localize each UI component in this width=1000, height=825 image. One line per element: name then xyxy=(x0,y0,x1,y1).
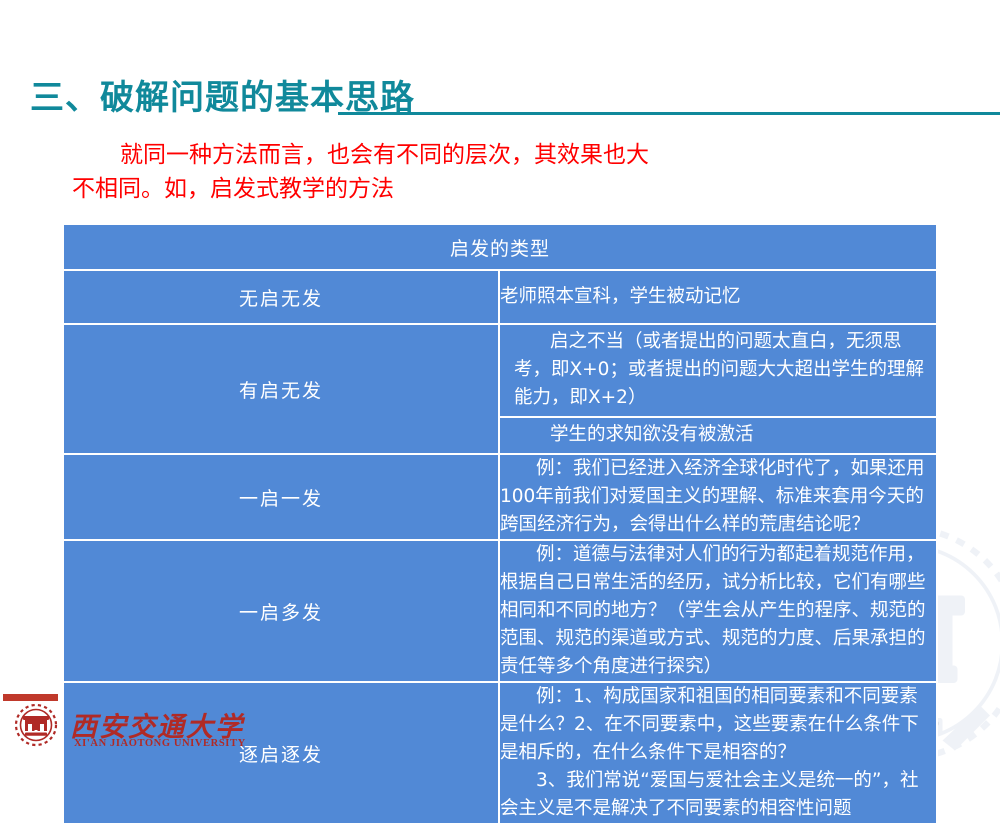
row-content: 例：道德与法律对人们的行为都起着规范作用，根据自己日常生活的经历，试分析比较，它… xyxy=(500,541,938,683)
row-paragraph: 3、我们常说“爱国与爱社会主义是统一的”，社会主义是不是解决了不同要素的相容性问… xyxy=(500,767,936,823)
university-name-en: XI'AN JIAOTONG UNIVERSITY xyxy=(74,738,246,749)
row-content: 老师照本宣科，学生被动记忆 xyxy=(500,271,938,325)
table-row: 一启多发 例：道德与法律对人们的行为都起着规范作用，根据自己日常生活的经历，试分… xyxy=(62,541,938,683)
table-header-row: 启发的类型 xyxy=(62,223,938,271)
university-seal-icon xyxy=(8,703,64,747)
row-label: 一启一发 xyxy=(62,455,500,541)
row-label: 有启无发 xyxy=(62,325,500,455)
title-underline-rule xyxy=(338,112,1000,115)
row-paragraph: 例：我们已经进入经济全球化时代了，如果还用100年前我们对爱国主义的理解、标准来… xyxy=(500,455,936,539)
table-row: 有启无发 启之不当（或者提出的问题太直白，无须思考，即X+0；或者提出的问题大大… xyxy=(62,325,938,455)
footer-accent-bar xyxy=(3,694,58,701)
subtitle-line-2: 不相同。如，启发式教学的方法 xyxy=(72,172,922,206)
row-paragraph: 启之不当（或者提出的问题太直白，无须思考，即X+0；或者提出的问题大大超出学生的… xyxy=(514,328,926,412)
table-row: 一启一发 例：我们已经进入经济全球化时代了，如果还用100年前我们对爱国主义的理… xyxy=(62,455,938,541)
row-content-split: 启之不当（或者提出的问题太直白，无须思考，即X+0；或者提出的问题大大超出学生的… xyxy=(500,325,938,455)
row-label: 无启无发 xyxy=(62,271,500,325)
row-subcell-top: 启之不当（或者提出的问题太直白，无须思考，即X+0；或者提出的问题大大超出学生的… xyxy=(500,325,936,418)
slide-subtitle: 就同一种方法而言，也会有不同的层次，其效果也大 不相同。如，启发式教学的方法 xyxy=(72,138,922,206)
row-paragraph: 例：道德与法律对人们的行为都起着规范作用，根据自己日常生活的经历，试分析比较，它… xyxy=(500,541,936,681)
row-content: 例：我们已经进入经济全球化时代了，如果还用100年前我们对爱国主义的理解、标准来… xyxy=(500,455,938,541)
row-paragraph: 例：1、构成国家和祖国的相同要素和不同要素是什么？2、在不同要素中，这些要素在什… xyxy=(500,683,936,767)
table-header-title: 启发的类型 xyxy=(62,223,938,271)
university-logo: 西安交通大学 XI'AN JIAOTONG UNIVERSITY xyxy=(8,703,248,747)
row-label: 一启多发 xyxy=(62,541,500,683)
table-row: 无启无发 老师照本宣科，学生被动记忆 xyxy=(62,271,938,325)
row-paragraph: 老师照本宣科，学生被动记忆 xyxy=(500,283,936,311)
row-content: 例：1、构成国家和祖国的相同要素和不同要素是什么？2、在不同要素中，这些要素在什… xyxy=(500,683,938,825)
subtitle-line-1: 就同一种方法而言，也会有不同的层次，其效果也大 xyxy=(72,138,922,172)
row-subcell-bottom: 学生的求知欲没有被激活 xyxy=(500,418,936,453)
slide-title-block: 三、破解问题的基本思路 xyxy=(0,78,1000,124)
row-paragraph: 学生的求知欲没有被激活 xyxy=(514,421,926,449)
